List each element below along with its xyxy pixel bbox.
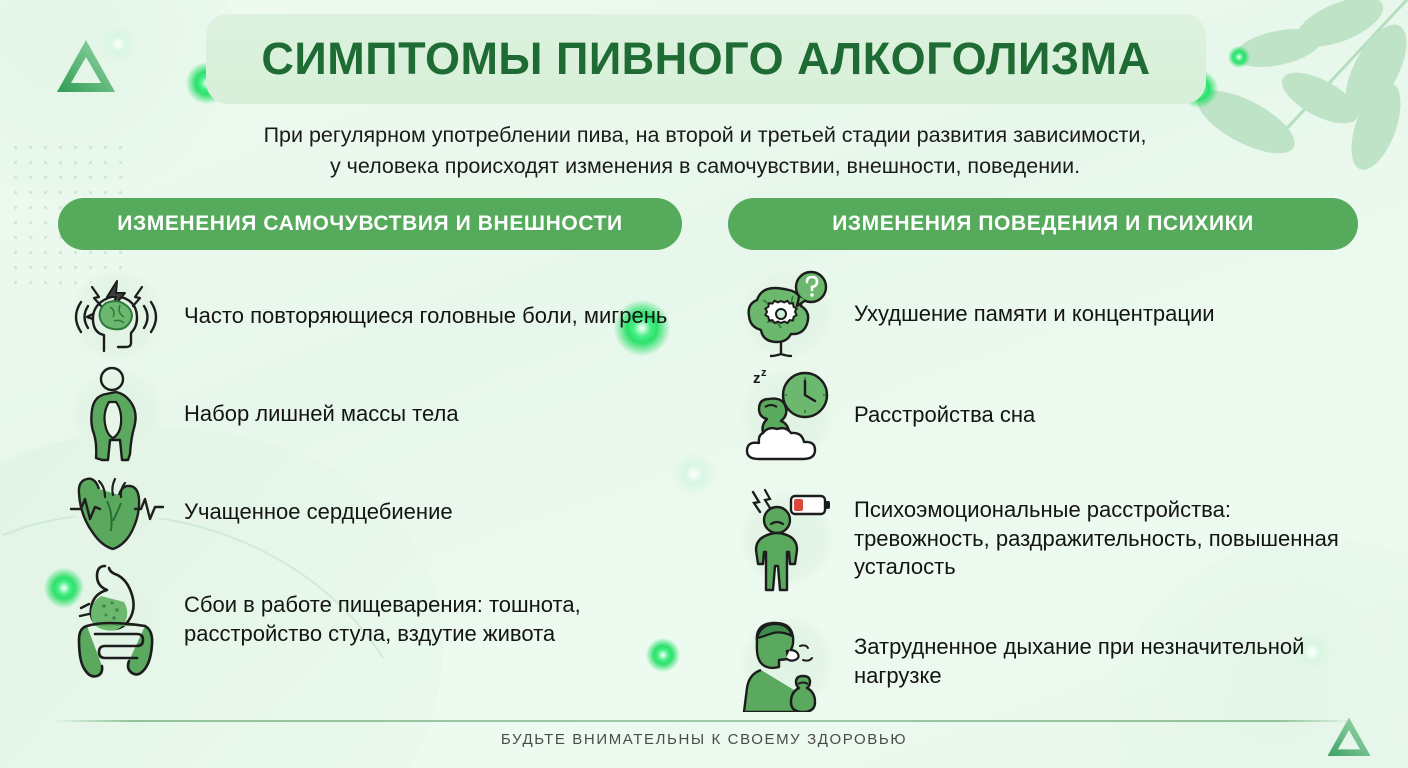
list-item-label: Учащенное сердцебиение	[176, 498, 453, 527]
stomach-intestines-icon	[58, 561, 176, 679]
list-item-label: Расстройства сна	[846, 401, 1035, 430]
subtitle: При регулярном употреблении пива, на вто…	[150, 120, 1260, 181]
list-item-label: Сбои в работе пищеварения: тошнота, расс…	[176, 591, 688, 648]
list-item-label: Набор лишней массы тела	[176, 400, 459, 429]
svg-text:z: z	[753, 370, 761, 387]
stressed-person-low-battery-icon	[728, 480, 846, 598]
symptom-list-physical: Часто повторяющиеся головные боли, мигре…	[58, 268, 688, 680]
svg-text:z: z	[761, 367, 767, 379]
section-heading-behavioral: ИЗМЕНЕНИЯ ПОВЕДЕНИЯ И ПСИХИКИ	[728, 198, 1358, 250]
list-item-label: Часто повторяющиеся головные боли, мигре…	[176, 302, 667, 331]
list-item: Набор лишней массы тела	[58, 364, 688, 464]
headache-head-brain-lightning-icon	[58, 257, 176, 375]
brain-gear-question-icon	[728, 255, 846, 373]
breathless-person-kettlebell-icon	[728, 603, 846, 721]
list-item-label: Ухудшение памяти и концентрации	[846, 300, 1215, 329]
column-physical-symptoms: ИЗМЕНЕНИЯ САМОЧУВСТВИЯ И ВНЕШНОСТИ	[58, 198, 688, 680]
list-item-label: Психоэмоциональные расстройства: тревожн…	[846, 496, 1358, 582]
list-item: z z Расстройства сна	[728, 360, 1358, 470]
symptom-list-behavioral: Ухудшение памяти и концентрации z z	[728, 268, 1358, 716]
insomnia-cloud-clock-icon: z z	[728, 356, 846, 474]
section-heading-physical: ИЗМЕНЕНИЯ САМОЧУВСТВИЯ И ВНЕШНОСТИ	[58, 198, 682, 250]
glow-dot	[1228, 46, 1250, 68]
list-item: Учащенное сердцебиение	[58, 464, 688, 560]
heart-pulse-icon	[58, 453, 176, 571]
list-item-label: Затрудненное дыхание при незначительной …	[846, 633, 1358, 690]
footer-note: БУДЬТЕ ВНИМАТЕЛЬНЫ К СВОЕМУ ЗДОРОВЬЮ	[0, 731, 1408, 748]
infographic-poster: СИМПТОМЫ ПИВНОГО АЛКОГОЛИЗМА При регуляр…	[0, 0, 1408, 768]
list-item: Ухудшение памяти и концентрации	[728, 268, 1358, 360]
subtitle-line-2: у человека происходят изменения в самочу…	[150, 151, 1260, 182]
triangle-logo	[55, 38, 117, 96]
list-item: Затрудненное дыхание при незначительной …	[728, 608, 1358, 716]
list-item: Сбои в работе пищеварения: тошнота, расс…	[58, 560, 688, 680]
list-item: Психоэмоциональные расстройства: тревожн…	[728, 470, 1358, 608]
list-item: Часто повторяющиеся головные боли, мигре…	[58, 268, 688, 364]
subtitle-line-1: При регулярном употреблении пива, на вто…	[150, 120, 1260, 151]
footer-divider	[52, 720, 1356, 722]
page-title: СИМПТОМЫ ПИВНОГО АЛКОГОЛИЗМА	[206, 22, 1206, 96]
column-behavioral-symptoms: ИЗМЕНЕНИЯ ПОВЕДЕНИЯ И ПСИХИКИ	[728, 198, 1358, 716]
